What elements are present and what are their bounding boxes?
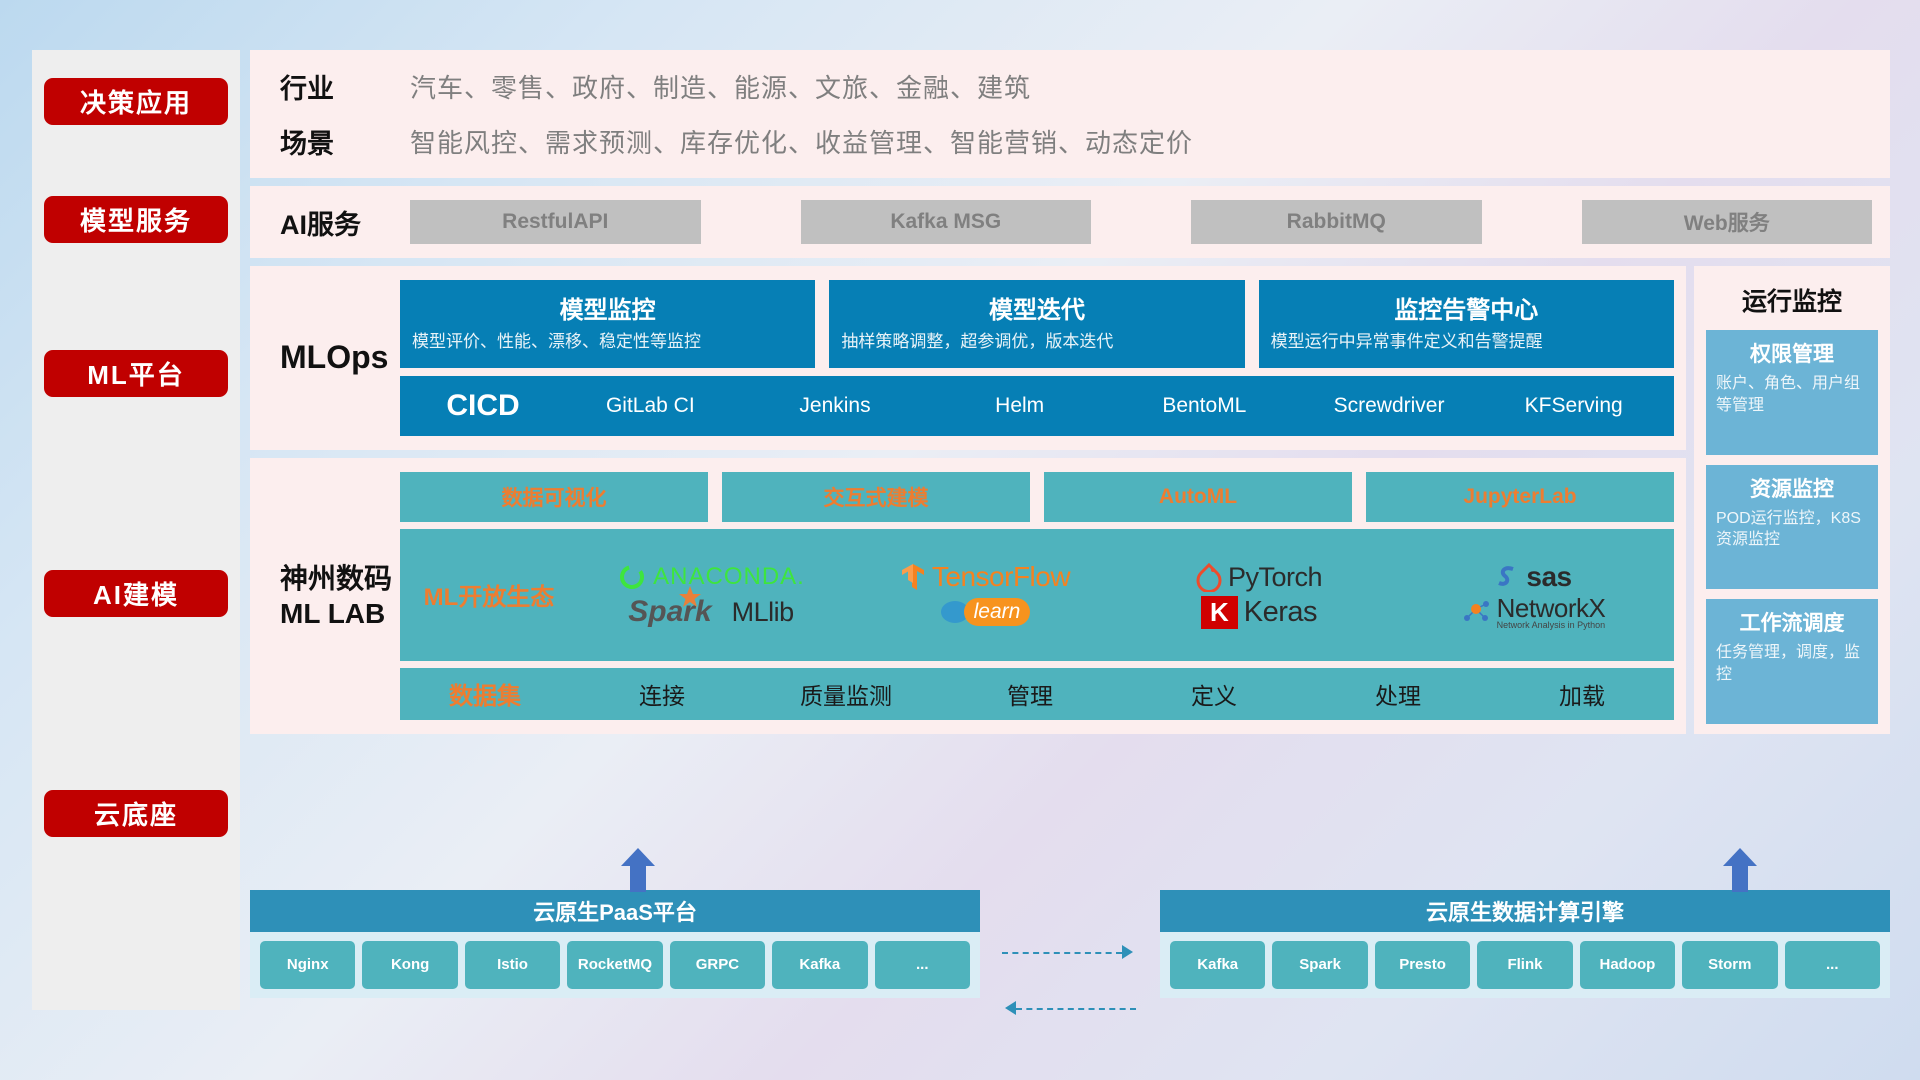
compute-chip-presto[interactable]: Presto: [1375, 941, 1470, 989]
networkx-logo: NetworkX Network Analysis in Python: [1396, 595, 1670, 630]
paas-platform-title: 云原生PaaS平台: [250, 890, 980, 932]
mlops-card-desc: 抽样策略调整，超参调优，版本迭代: [841, 331, 1232, 354]
dataset-item-define[interactable]: 定义: [1122, 677, 1306, 711]
runtime-monitor-panel: 运行监控 权限管理 账户、角色、用户组等管理 资源监控 POD运行监控，K8S资…: [1694, 266, 1890, 734]
stage-pill-ai-modeling[interactable]: AI建模: [44, 570, 228, 617]
platform-and-monitor: MLOps 模型监控 模型评价、性能、漂移、稳定性等监控 模型迭代 抽样策略调整…: [250, 266, 1890, 734]
monitor-card-title: 权限管理: [1716, 338, 1868, 368]
cicd-label: CICD: [408, 389, 558, 423]
dataset-item-load[interactable]: 加载: [1490, 677, 1674, 711]
networkx-logo-subtext: Network Analysis in Python: [1497, 621, 1606, 630]
monitor-card-title: 工作流调度: [1716, 607, 1868, 637]
dataset-bar: 数据集 连接 质量监测 管理 定义 处理 加载: [400, 668, 1674, 720]
networkx-logo-text: NetworkX: [1497, 595, 1606, 621]
ai-service-chip-web[interactable]: Web服务: [1582, 200, 1873, 244]
sas-icon: [1494, 562, 1520, 592]
dataset-item-process[interactable]: 处理: [1306, 677, 1490, 711]
tensorflow-icon: [900, 562, 926, 592]
tensorflow-logo: TensorFlow: [848, 561, 1122, 593]
link-arrow-left-line: [1016, 1008, 1136, 1010]
industry-values: 汽车、零售、政府、制造、能源、文旅、金融、建筑: [410, 68, 1031, 105]
ml-ecosystem-label: ML开放生态: [404, 577, 574, 612]
ai-service-chip-restfulapi[interactable]: RestfulAPI: [410, 200, 701, 244]
link-arrow-right-line: [1002, 952, 1122, 954]
scenario-row: 场景 智能风控、需求预测、库存优化、收益管理、智能营销、动态定价: [280, 122, 1890, 161]
dataset-item-connect[interactable]: 连接: [570, 677, 754, 711]
paas-chip-kong[interactable]: Kong: [362, 941, 457, 989]
pytorch-logo-text: PyTorch: [1228, 562, 1322, 593]
tensorflow-logo-text: TensorFlow: [932, 561, 1070, 593]
keras-mark: K: [1201, 596, 1238, 629]
dataset-label: 数据集: [400, 676, 570, 711]
lab-tool-interactive-modeling[interactable]: 交互式建模: [722, 472, 1030, 522]
cloud-base-section: 云原生PaaS平台 Nginx Kong Istio RocketMQ GRPC…: [250, 890, 1890, 998]
sas-logo-text: sas: [1526, 561, 1571, 593]
mlops-band: MLOps 模型监控 模型评价、性能、漂移、稳定性等监控 模型迭代 抽样策略调整…: [250, 266, 1686, 450]
industry-row: 行业 汽车、零售、政府、制造、能源、文旅、金融、建筑: [280, 67, 1890, 106]
compute-chip-spark[interactable]: Spark: [1272, 941, 1367, 989]
mllib-text: MLlib: [732, 597, 794, 628]
link-arrow-left-head-icon: [1005, 1001, 1016, 1015]
mlops-card-alert-center[interactable]: 监控告警中心 模型运行中异常事件定义和告警提醒: [1259, 280, 1674, 368]
stage-pill-model-service[interactable]: 模型服务: [44, 196, 228, 243]
mlops-card-title: 监控告警中心: [1271, 290, 1662, 325]
cicd-item-jenkins[interactable]: Jenkins: [743, 395, 928, 416]
stage-pill-decision-apps[interactable]: 决策应用: [44, 78, 228, 125]
compute-chip-hadoop[interactable]: Hadoop: [1580, 941, 1675, 989]
lab-tool-jupyterlab[interactable]: JupyterLab: [1366, 472, 1674, 522]
scikit-learn-logo: learn: [848, 598, 1122, 626]
lab-tool-data-visualization[interactable]: 数据可视化: [400, 472, 708, 522]
architecture-main: 行业 汽车、零售、政府、制造、能源、文旅、金融、建筑 场景 智能风控、需求预测、…: [250, 50, 1890, 742]
ml-lab-label-line1: 神州数码: [280, 561, 400, 596]
paas-chip-rocketmq[interactable]: RocketMQ: [567, 941, 662, 989]
spark-star-icon: [678, 585, 702, 609]
monitor-card-desc: POD运行监控，K8S资源监控: [1716, 508, 1868, 551]
mlops-card-desc: 模型评价、性能、漂移、稳定性等监控: [412, 331, 803, 354]
anaconda-logo: ANACONDA.: [574, 562, 848, 592]
stage-rail: 决策应用 模型服务 ML平台 AI建模 云底座: [32, 50, 240, 1010]
data-compute-engine-card: 云原生数据计算引擎 Kafka Spark Presto Flink Hadoo…: [1160, 890, 1890, 998]
paas-chip-istio[interactable]: Istio: [465, 941, 560, 989]
mlops-card-model-iteration[interactable]: 模型迭代 抽样策略调整，超参调优，版本迭代: [829, 280, 1244, 368]
link-arrow-right-head-icon: [1122, 945, 1133, 959]
sas-logo: sas: [1396, 561, 1670, 593]
anaconda-logo-text: ANACONDA.: [653, 563, 805, 591]
keras-logo-text: Keras: [1244, 596, 1317, 629]
runtime-monitor-title: 运行监控: [1706, 282, 1878, 318]
stage-pill-cloud-base[interactable]: 云底座: [44, 790, 228, 837]
ml-lab-label: 神州数码 ML LAB: [280, 561, 400, 631]
spark-mllib-logo: Spark MLlib: [574, 595, 848, 629]
scenario-label: 场景: [280, 122, 410, 161]
data-compute-engine-title: 云原生数据计算引擎: [1160, 890, 1890, 932]
paas-chip-grpc[interactable]: GRPC: [670, 941, 765, 989]
keras-logo: K Keras: [1122, 596, 1396, 629]
spark-mark: Spark: [628, 595, 711, 629]
pytorch-logo: PyTorch: [1122, 562, 1396, 593]
compute-arrow-head-icon: [1723, 848, 1757, 866]
lab-tool-automl[interactable]: AutoML: [1044, 472, 1352, 522]
monitor-card-title: 资源监控: [1716, 473, 1868, 503]
dataset-item-quality[interactable]: 质量监测: [754, 677, 938, 711]
paas-chip-more[interactable]: ...: [875, 941, 970, 989]
paas-chip-kafka[interactable]: Kafka: [772, 941, 867, 989]
mlops-label: MLOps: [280, 339, 400, 376]
decision-apps-band: 行业 汽车、零售、政府、制造、能源、文旅、金融、建筑 场景 智能风控、需求预测、…: [250, 50, 1890, 178]
cicd-item-helm[interactable]: Helm: [927, 395, 1112, 416]
ml-lab-label-line2: ML LAB: [280, 596, 400, 631]
monitor-card-resource[interactable]: 资源监控 POD运行监控，K8S资源监控: [1706, 465, 1878, 590]
cicd-item-gitlab-ci[interactable]: GitLab CI: [558, 395, 743, 416]
mlops-card-desc: 模型运行中异常事件定义和告警提醒: [1271, 331, 1662, 354]
cicd-bar: CICD GitLab CI Jenkins Helm BentoML Scre…: [400, 376, 1674, 436]
scikit-learn-logo-text: learn: [964, 598, 1031, 626]
paas-arrow-head-icon: [621, 848, 655, 866]
monitor-card-permission[interactable]: 权限管理 账户、角色、用户组等管理: [1706, 330, 1878, 455]
stage-pill-ml-platform[interactable]: ML平台: [44, 350, 228, 397]
mlops-card-title: 模型迭代: [841, 290, 1232, 325]
compute-chip-storm[interactable]: Storm: [1682, 941, 1777, 989]
anaconda-icon: [617, 562, 647, 592]
paas-platform-card: 云原生PaaS平台 Nginx Kong Istio RocketMQ GRPC…: [250, 890, 980, 998]
industry-label: 行业: [280, 67, 410, 106]
cicd-item-screwdriver[interactable]: Screwdriver: [1297, 395, 1482, 416]
compute-chip-flink[interactable]: Flink: [1477, 941, 1572, 989]
scenario-values: 智能风控、需求预测、库存优化、收益管理、智能营销、动态定价: [410, 123, 1193, 160]
compute-chip-kafka[interactable]: Kafka: [1170, 941, 1265, 989]
mlops-card-model-monitoring[interactable]: 模型监控 模型评价、性能、漂移、稳定性等监控: [400, 280, 815, 368]
dataset-item-manage[interactable]: 管理: [938, 677, 1122, 711]
cicd-item-bentoml[interactable]: BentoML: [1112, 395, 1297, 416]
ml-ecosystem-bar: ML开放生态 ANACONDA.: [400, 529, 1674, 661]
monitor-card-workflow[interactable]: 工作流调度 任务管理，调度，监控: [1706, 599, 1878, 724]
networkx-icon: [1461, 598, 1491, 626]
monitor-card-desc: 账户、角色、用户组等管理: [1716, 373, 1868, 416]
cicd-item-kfserving[interactable]: KFServing: [1481, 395, 1666, 416]
monitor-card-desc: 任务管理，调度，监控: [1716, 642, 1868, 685]
ai-service-label: AI服务: [280, 203, 410, 242]
ai-service-band: AI服务 RestfulAPI Kafka MSG RabbitMQ Web服务: [250, 186, 1890, 258]
mlops-card-title: 模型监控: [412, 290, 803, 325]
paas-arrow-stem: [630, 866, 646, 892]
pytorch-icon: [1196, 562, 1222, 592]
compute-arrow-stem: [1732, 866, 1748, 892]
ai-service-chip-rabbitmq[interactable]: RabbitMQ: [1191, 200, 1482, 244]
paas-chip-nginx[interactable]: Nginx: [260, 941, 355, 989]
compute-chip-more[interactable]: ...: [1785, 941, 1880, 989]
ml-lab-band: 神州数码 ML LAB 数据可视化 交互式建模 AutoML JupyterLa…: [250, 458, 1686, 734]
ai-service-chip-kafka-msg[interactable]: Kafka MSG: [801, 200, 1092, 244]
cloud-link-arrows: [980, 890, 1160, 998]
